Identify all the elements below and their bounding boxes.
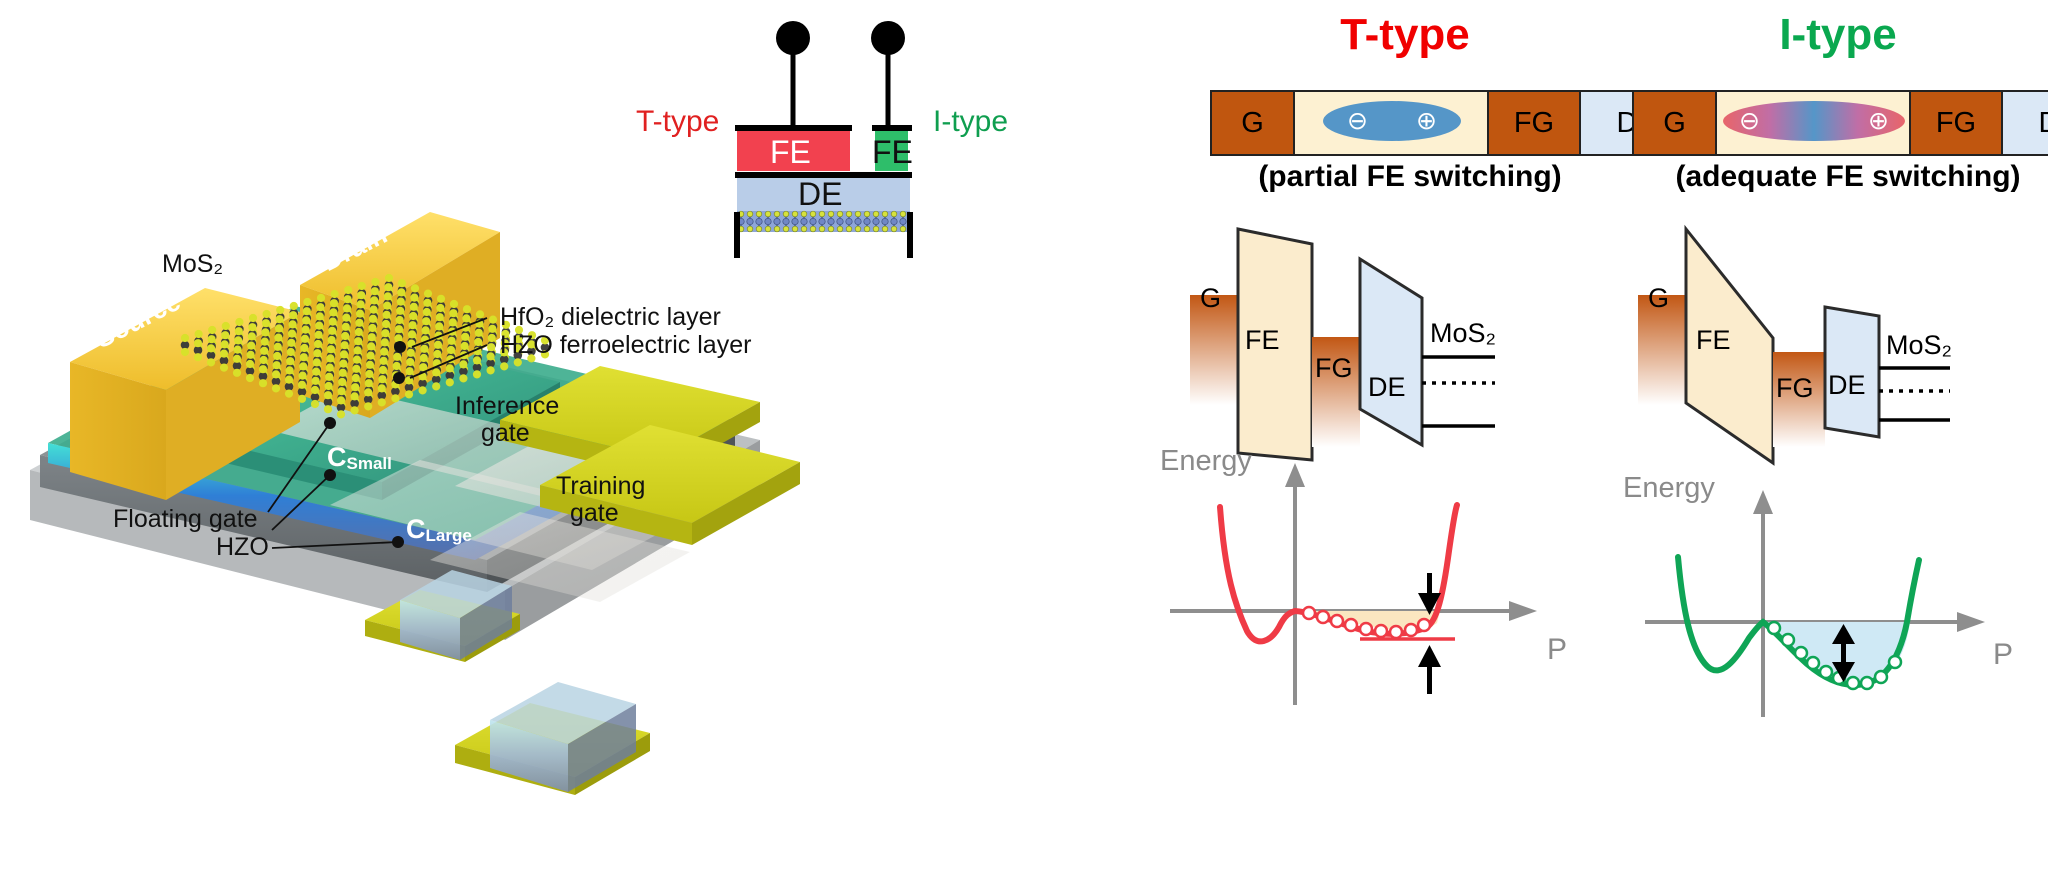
i-stack-seg-fg: FG: [1911, 92, 2004, 154]
t-stack-seg-fg: FG: [1489, 92, 1582, 154]
t-domain-minus: ⊖: [1347, 106, 1368, 136]
t-band-fg-label: FG: [1315, 353, 1353, 384]
t-domain-plus: ⊕: [1416, 106, 1437, 136]
i-type-layer-stack: G ⊖ ⊕ FG DE: [1632, 90, 2048, 156]
t-stack-seg-g: G: [1212, 92, 1295, 154]
t-energy-x-arrow: [1509, 601, 1537, 621]
hzo-label: HZO: [216, 533, 269, 562]
training-gate-label-line2: gate: [570, 499, 619, 528]
i-domain-ellipse: ⊖ ⊕: [1723, 101, 1905, 141]
hfo2-dielectric-label: HfO₂ dielectric layer: [500, 303, 721, 332]
i-band-g-label: G: [1648, 283, 1669, 314]
t-type-top-plate: [735, 125, 852, 131]
i-type-energy-plot: [1613, 482, 2048, 732]
t-type-column: T-type G ⊖ ⊕ FG DE MoS₂ (partial FE swit…: [1180, 0, 1630, 894]
i-domain-plus: ⊕: [1868, 106, 1889, 136]
t-band-g-label: G: [1200, 283, 1221, 314]
i-stack-seg-g: G: [1634, 92, 1717, 154]
t-energy-depth-arrows: [1418, 573, 1441, 694]
i-type-column: I-type G ⊖ ⊕ FG DE MoS₂ (adequate FE swi…: [1628, 0, 2048, 894]
t-type-layer-stack: G ⊖ ⊕ FG DE: [1210, 90, 1694, 156]
i-energy-p-label: P: [1993, 638, 2013, 672]
i-band-fe-label: FE: [1696, 325, 1731, 356]
inference-gate-label-line1: Inference: [455, 392, 559, 421]
t-type-energy-plot: [1165, 455, 1635, 715]
t-domain-ellipse: ⊖ ⊕: [1323, 101, 1461, 141]
mos2-label: MoS₂: [162, 250, 223, 279]
i-stack-seg-fe: ⊖ ⊕: [1717, 92, 1911, 154]
t-band-fe-label: FE: [1245, 325, 1280, 356]
i-energy-x-arrow: [1957, 612, 1985, 632]
circuit-schematic: T-type I-type FE FE DE: [600, 0, 1020, 260]
t-stack-seg-fe: ⊖ ⊕: [1295, 92, 1489, 154]
circuit-fe-small-label: FE: [872, 134, 913, 171]
circuit-i-type-label: I-type: [933, 105, 1008, 139]
t-energy-p-label: P: [1547, 633, 1567, 667]
circuit-de-label: DE: [798, 176, 842, 213]
circuit-fe-large-label: FE: [770, 134, 811, 171]
i-domain-minus: ⊖: [1739, 106, 1760, 136]
inference-gate-label-line2: gate: [481, 419, 530, 448]
hzo-ferroelectric-label: HZO ferroelectric layer: [500, 331, 751, 360]
i-band-mos2-label: MoS₂: [1886, 330, 1952, 361]
capacitor-large-label: CLarge: [406, 514, 472, 546]
training-gate-label-line1: Training: [556, 472, 645, 501]
t-type-title: T-type: [1180, 10, 1630, 60]
i-type-title: I-type: [1628, 10, 2048, 60]
i-band-de-label: DE: [1828, 370, 1866, 401]
t-energy-y-arrow: [1285, 463, 1305, 487]
i-energy-y-arrow: [1753, 490, 1773, 514]
capacitor-small-label: CSmall: [327, 442, 392, 474]
floating-gate-label: Floating gate: [113, 505, 258, 534]
i-stack-seg-de: DE: [2003, 92, 2048, 154]
i-type-subtitle: (adequate FE switching): [1588, 160, 2048, 194]
t-band-de-label: DE: [1368, 372, 1406, 403]
circuit-t-type-label: T-type: [636, 105, 719, 139]
i-band-fg-label: FG: [1776, 373, 1814, 404]
i-type-top-plate: [872, 125, 912, 131]
t-band-mos2-label: MoS₂: [1430, 318, 1496, 349]
